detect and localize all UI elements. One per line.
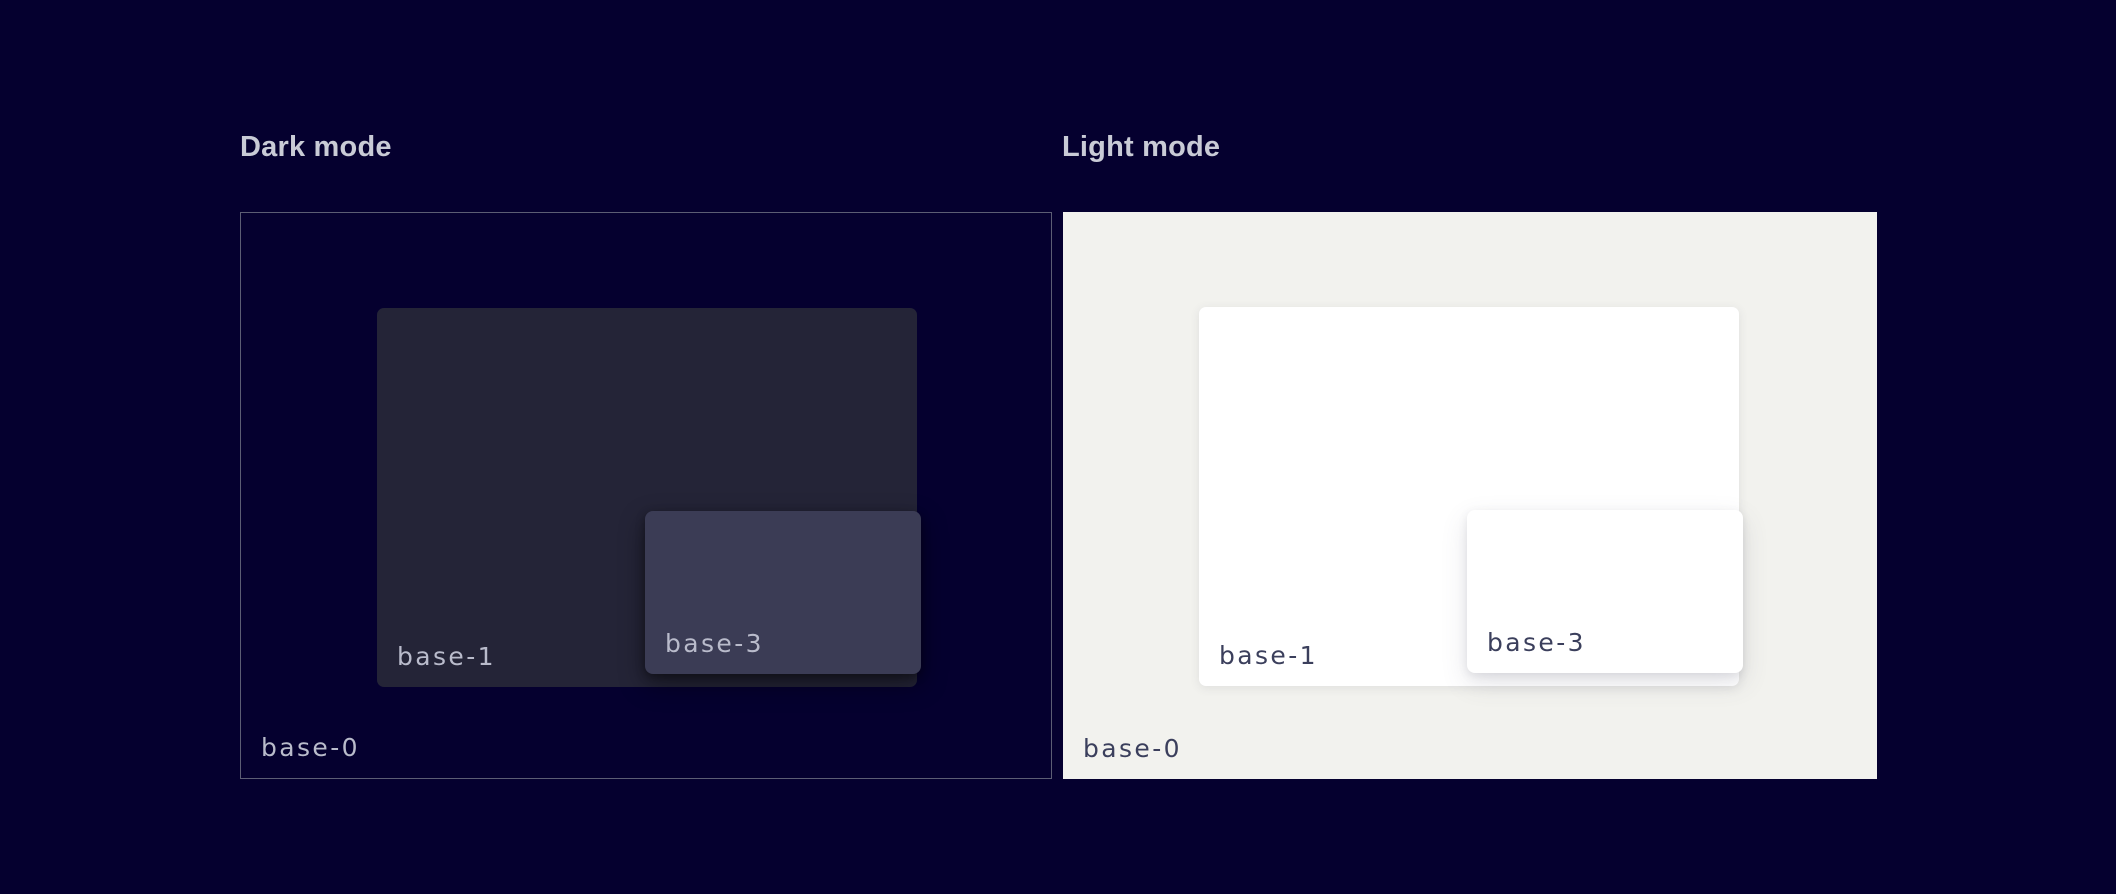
dark-base1-label: base-1 xyxy=(397,644,496,669)
light-mode-base1-card: base-3 base-1 xyxy=(1199,307,1739,686)
light-base3-label: base-3 xyxy=(1487,630,1586,655)
dark-mode-base1-card: base-3 base-1 xyxy=(377,308,917,687)
color-scale-demo-canvas: Dark mode base-3 base-1 base-0 Light mod… xyxy=(0,0,2116,894)
dark-base3-label: base-3 xyxy=(665,631,764,656)
dark-mode-base0-panel: base-3 base-1 base-0 xyxy=(240,212,1052,779)
dark-mode-base3-card: base-3 xyxy=(645,511,921,674)
dark-base0-label: base-0 xyxy=(261,735,360,760)
light-mode-heading: Light mode xyxy=(1062,133,1220,162)
light-mode-base3-card: base-3 xyxy=(1467,510,1743,673)
dark-mode-heading: Dark mode xyxy=(240,133,392,162)
light-base0-label: base-0 xyxy=(1083,736,1182,761)
light-mode-base0-panel: base-3 base-1 base-0 xyxy=(1063,212,1877,779)
light-base1-label: base-1 xyxy=(1219,643,1318,668)
